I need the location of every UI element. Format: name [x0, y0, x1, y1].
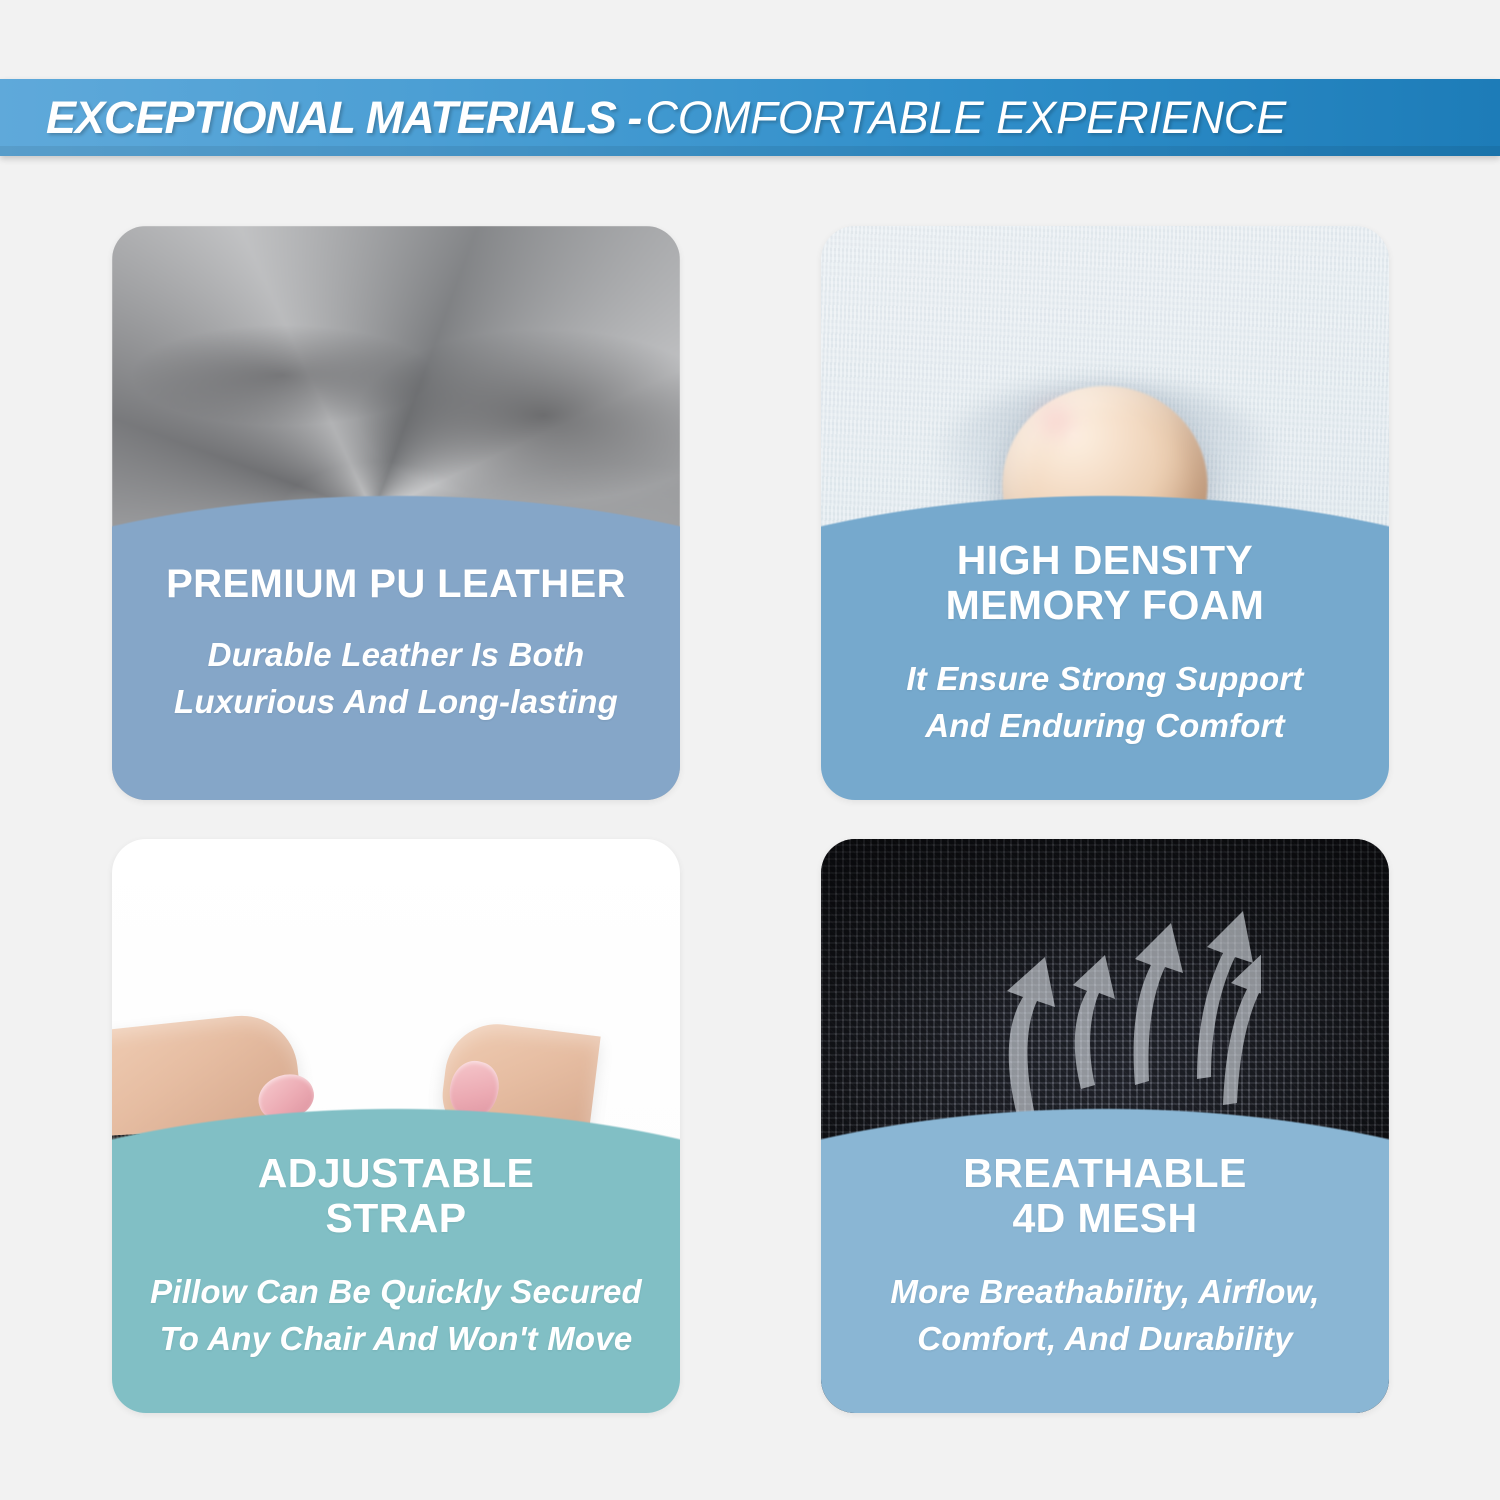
caption-high-density-memory-foam: HIGH DENSITY MEMORY FOAM It Ensure Stron… — [821, 495, 1389, 800]
infographic-page: EXCEPTIONAL MATERIALS - COMFORTABLE EXPE… — [0, 0, 1500, 1500]
card-title: BREATHABLE 4D MESH — [963, 1151, 1246, 1241]
card-title: ADJUSTABLE STRAP — [258, 1151, 535, 1241]
caption-premium-pu-leather: PREMIUM PU LEATHER Durable Leather Is Bo… — [112, 495, 680, 800]
card-title: HIGH DENSITY MEMORY FOAM — [946, 538, 1265, 628]
feature-card-breathable-4d-mesh[interactable]: BREATHABLE 4D MESH More Breathability, A… — [821, 839, 1389, 1413]
card-subtitle: Pillow Can Be Quickly Secured To Any Cha… — [150, 1269, 642, 1363]
feature-card-premium-pu-leather[interactable]: PREMIUM PU LEATHER Durable Leather Is Bo… — [112, 226, 680, 800]
feature-card-adjustable-strap[interactable]: ADJUSTABLE STRAP Pillow Can Be Quickly S… — [112, 839, 680, 1413]
caption-breathable-4d-mesh: BREATHABLE 4D MESH More Breathability, A… — [821, 1108, 1389, 1413]
feature-card-grid: PREMIUM PU LEATHER Durable Leather Is Bo… — [112, 226, 1389, 1413]
card-subtitle: It Ensure Strong Support And Enduring Co… — [906, 656, 1303, 750]
feature-card-high-density-memory-foam[interactable]: HIGH DENSITY MEMORY FOAM It Ensure Stron… — [821, 226, 1389, 800]
card-subtitle: More Breathability, Airflow, Comfort, An… — [890, 1269, 1319, 1363]
banner-title-bold: EXCEPTIONAL MATERIALS - — [46, 92, 641, 143]
card-title: PREMIUM PU LEATHER — [166, 562, 626, 606]
caption-adjustable-strap: ADJUSTABLE STRAP Pillow Can Be Quickly S… — [112, 1108, 680, 1413]
banner-title-light: COMFORTABLE EXPERIENCE — [645, 92, 1286, 143]
banner-title: EXCEPTIONAL MATERIALS - COMFORTABLE EXPE… — [0, 92, 1286, 144]
header-banner: EXCEPTIONAL MATERIALS - COMFORTABLE EXPE… — [0, 79, 1500, 156]
card-subtitle: Durable Leather Is Both Luxurious And Lo… — [174, 632, 618, 726]
